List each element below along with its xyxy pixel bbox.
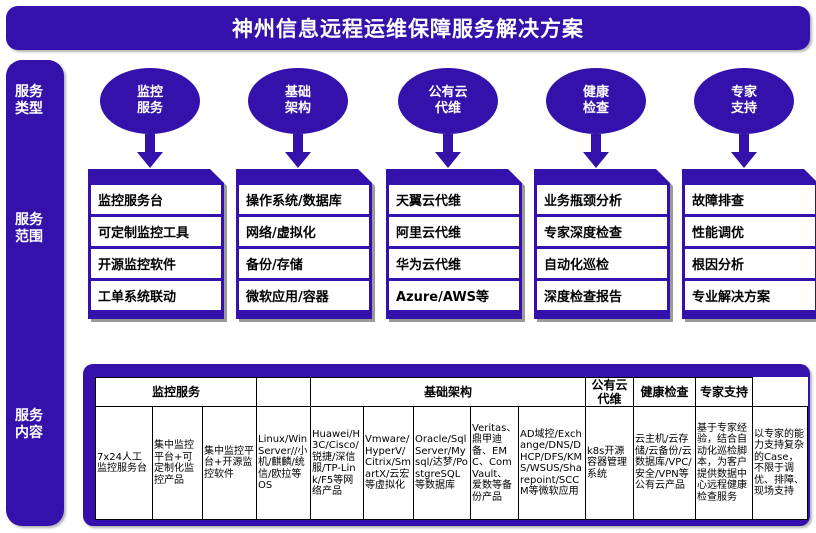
table-cell: 以专家的能力支持复杂的Case，不限于调优、排障、现场支持 <box>753 407 808 520</box>
rail-label-service-type-line2: 类型 <box>0 101 58 118</box>
service-content-table: 监控服务基础架构公有云代维健康检查专家支持 7x24人工监控服务台集中监控平台+… <box>95 377 808 520</box>
table-group-header: 监控服务 <box>96 378 257 407</box>
down-arrow-icon <box>435 134 461 168</box>
scope-item[interactable]: 专业解决方案 <box>685 281 815 310</box>
scope-item[interactable]: 备份/存储 <box>239 249 369 278</box>
slide-title-banner: 神州信息远程运维保障服务解决方案 <box>6 6 810 50</box>
rail-label-service-type-line1: 服务 <box>0 84 58 101</box>
category-label-line1: 专家 <box>731 85 757 101</box>
rail-label-service-content-line2: 内容 <box>0 425 58 442</box>
scope-item[interactable]: 微软应用/容器 <box>239 281 369 310</box>
scope-item[interactable]: Azure/AWS等 <box>389 281 519 310</box>
category-ellipse[interactable]: 健康检查 <box>546 68 646 134</box>
scope-item[interactable]: 自动化巡检 <box>537 249 667 278</box>
category-ellipse[interactable]: 基础架构 <box>248 68 348 134</box>
category-ellipse[interactable]: 专家支持 <box>694 68 794 134</box>
rail-label-service-scope-line1: 服务 <box>0 212 58 229</box>
scope-item[interactable]: 操作系统/数据库 <box>239 185 369 214</box>
table-group-header: 公有云代维 <box>586 378 634 407</box>
table-cell: Linux/WinServer//小机/麒麟/统信/欧拉等OS <box>257 407 311 520</box>
down-arrow-icon <box>583 134 609 168</box>
rail-label-service-scope-line2: 范围 <box>0 229 58 246</box>
table-cell: Vmware/HyperV/Citrix/SmartX/云宏等虚拟化 <box>364 407 414 520</box>
scope-item[interactable]: 性能调优 <box>685 217 815 246</box>
scope-item[interactable]: 根因分析 <box>685 249 815 278</box>
scope-item[interactable]: 可定制监控工具 <box>91 217 221 246</box>
rail-label-service-content-line1: 服务 <box>0 408 58 425</box>
scope-item[interactable]: 天翼云代维 <box>389 185 519 214</box>
category-label-line2: 服务 <box>137 101 163 117</box>
category-ellipse[interactable]: 公有云代维 <box>398 68 498 134</box>
category-label-line2: 代维 <box>435 101 461 117</box>
scope-item[interactable]: 故障排查 <box>685 185 815 214</box>
scope-item[interactable]: 监控服务台 <box>91 185 221 214</box>
slide-canvas: 神州信息远程运维保障服务解决方案 服务 类型 服务 范围 服务 内容 监控服务监… <box>0 0 816 533</box>
table-cell: 基于专家经验，结合自动化巡检脚本，为客户提供数据中心远程健康检查服务 <box>696 407 753 520</box>
table-cell: 云主机/云存储/云备份/云数据库/VPC/安全/VPN等公有云产品 <box>634 407 696 520</box>
category-label-line1: 监控 <box>137 85 163 101</box>
table-cell: Oracle/SqlServer/Mysql/达梦/PostgreSQL等数据库 <box>414 407 471 520</box>
table-group-header: 基础架构 <box>311 378 586 407</box>
rail-label-service-content: 服务 内容 <box>0 408 58 442</box>
table-cell: 7x24人工监控服务台 <box>96 407 153 520</box>
scope-item[interactable]: 华为云代维 <box>389 249 519 278</box>
down-arrow-icon <box>285 134 311 168</box>
scope-card: 业务瓶颈分析专家深度检查自动化巡检深度检查报告 <box>534 169 670 319</box>
table-cell: AD域控/Exchange/DNS/DHCP/DFS/KMS/WSUS/Shar… <box>519 407 586 520</box>
rail-label-service-scope: 服务 范围 <box>0 212 58 246</box>
table-group-header-blank <box>257 378 311 407</box>
category-label-line2: 检查 <box>583 101 609 117</box>
scope-item[interactable]: 网络/虚拟化 <box>239 217 369 246</box>
scope-card: 天翼云代维阿里云代维华为云代维Azure/AWS等 <box>386 169 522 319</box>
table-cell: 集中监控平台+可定制化监控产品 <box>153 407 203 520</box>
category-label-line2: 架构 <box>285 101 311 117</box>
page-title: 神州信息远程运维保障服务解决方案 <box>232 13 584 43</box>
category-label-line1: 公有云 <box>428 85 467 101</box>
scope-item[interactable]: 业务瓶颈分析 <box>537 185 667 214</box>
down-arrow-icon <box>731 134 757 168</box>
table-header-row: 监控服务基础架构公有云代维健康检查专家支持 <box>96 378 808 407</box>
scope-card: 监控服务台可定制监控工具开源监控软件工单系统联动 <box>88 169 224 319</box>
scope-item[interactable]: 深度检查报告 <box>537 281 667 310</box>
table-cell: k8s开源容器管理系统 <box>586 407 634 520</box>
table-cell: 集中监控平台+开源监控软件 <box>203 407 257 520</box>
scope-item[interactable]: 开源监控软件 <box>91 249 221 278</box>
category-label-line2: 支持 <box>731 101 757 117</box>
table-cell: Veritas、鼎甲迪备、EMC、ComVault、爱数等备份产品 <box>471 407 519 520</box>
scope-item[interactable]: 阿里云代维 <box>389 217 519 246</box>
table-group-header: 专家支持 <box>696 378 753 407</box>
table-group-header: 健康检查 <box>634 378 696 407</box>
scope-card: 操作系统/数据库网络/虚拟化备份/存储微软应用/容器 <box>236 169 372 319</box>
category-label-line1: 基础 <box>285 85 311 101</box>
category-ellipse[interactable]: 监控服务 <box>100 68 200 134</box>
scope-card: 故障排查性能调优根因分析专业解决方案 <box>682 169 816 319</box>
table-row: 7x24人工监控服务台集中监控平台+可定制化监控产品集中监控平台+开源监控软件L… <box>96 407 808 520</box>
rail-label-service-type: 服务 类型 <box>0 84 58 118</box>
down-arrow-icon <box>137 134 163 168</box>
table-cell: Huawei/H3C/Cisco/锐捷/深信服/TP-Link/F5等网络产品 <box>311 407 364 520</box>
category-label-line1: 健康 <box>583 85 609 101</box>
left-rail <box>6 60 64 526</box>
scope-item[interactable]: 专家深度检查 <box>537 217 667 246</box>
scope-item[interactable]: 工单系统联动 <box>91 281 221 310</box>
